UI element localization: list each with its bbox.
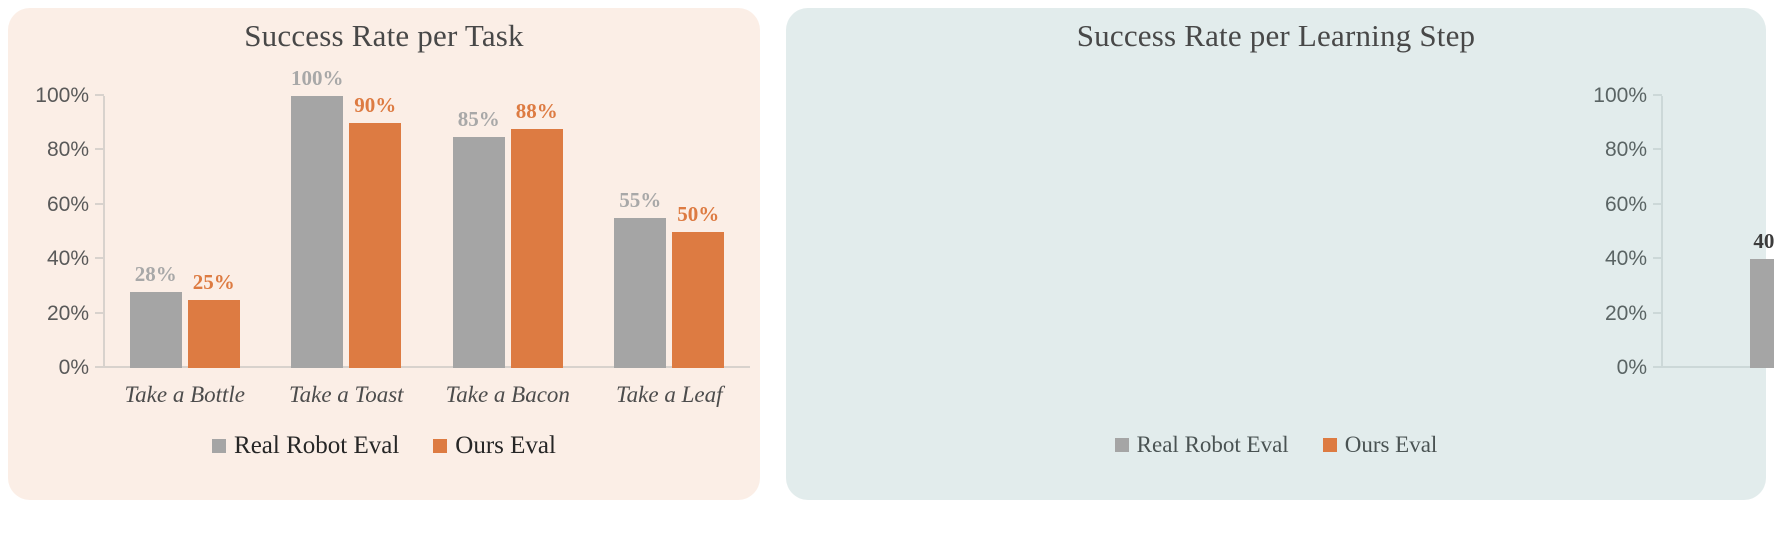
- legend-item-real-robot-eval[interactable]: Real Robot Eval: [1115, 432, 1289, 458]
- bar-group: 40%40%4K: [1662, 96, 1774, 368]
- chart-panel-success-rate-per-task: Success Rate per Task 0%20%40%60%80%100%…: [8, 8, 760, 500]
- y-axis-tick: [95, 366, 104, 368]
- y-axis-tick: [95, 148, 104, 150]
- plot-area-right: 0%20%40%60%80%100% 40%40%4K61%63%8K79%76…: [1662, 96, 1774, 368]
- x-axis-category-label: Take a Bacon: [446, 382, 570, 408]
- bar-value-label: 25%: [193, 270, 235, 295]
- bar-value-label: 28%: [135, 262, 177, 287]
- y-axis-tick-label: 20%: [47, 302, 89, 326]
- bar-ours-eval[interactable]: 88%: [511, 129, 563, 368]
- plot-area-left: 0%20%40%60%80%100% 28%25%Take a Bottle10…: [104, 96, 750, 368]
- legend-swatch-icon-gray: [1115, 438, 1129, 452]
- legend-swatch-icon-gray: [212, 439, 226, 453]
- figure-root: Success Rate per Task 0%20%40%60%80%100%…: [0, 0, 1774, 550]
- page-title: Success Rate per Learning Step: [786, 18, 1766, 54]
- bar-real-robot-eval[interactable]: 28%: [130, 292, 182, 368]
- legend-left: Real Robot Eval Ours Eval: [8, 432, 760, 460]
- y-axis-tick-label: 0%: [1617, 356, 1647, 380]
- y-axis-tick-label: 20%: [1605, 302, 1647, 326]
- legend-item-ours-eval[interactable]: Ours Eval: [433, 432, 556, 460]
- y-axis-tick-label: 80%: [47, 138, 89, 162]
- legend-label: Real Robot Eval: [1137, 432, 1289, 458]
- bar-ours-eval[interactable]: 25%: [188, 300, 240, 368]
- bar-value-label: 55%: [619, 188, 661, 213]
- legend-label: Ours Eval: [455, 432, 556, 460]
- x-axis-category-label: Take a Bottle: [124, 382, 245, 408]
- y-axis-tick: [1653, 312, 1662, 314]
- legend-item-ours-eval[interactable]: Ours Eval: [1323, 432, 1438, 458]
- bar-value-label: 88%: [516, 99, 558, 124]
- y-axis-tick: [1653, 203, 1662, 205]
- y-axis-tick: [1653, 257, 1662, 259]
- legend-right: Real Robot Eval Ours Eval: [786, 432, 1766, 458]
- y-axis-tick: [1653, 94, 1662, 96]
- bar-ours-eval[interactable]: 50%: [672, 232, 724, 368]
- y-axis-tick-label: 60%: [1605, 193, 1647, 217]
- legend-label: Ours Eval: [1345, 432, 1438, 458]
- legend-swatch-icon-orange: [1323, 438, 1337, 452]
- bar-group: 100%90%Take a Toast: [266, 96, 428, 368]
- bar-group: 85%88%Take a Bacon: [427, 96, 589, 368]
- bar-real-robot-eval[interactable]: 55%: [614, 218, 666, 368]
- bar-group: 28%25%Take a Bottle: [104, 96, 266, 368]
- chart-panel-success-rate-per-learning-step: Success Rate per Learning Step 0%20%40%6…: [786, 8, 1766, 500]
- y-axis-tick: [95, 312, 104, 314]
- y-axis-tick: [95, 257, 104, 259]
- bar-value-label: 90%: [354, 93, 396, 118]
- y-axis-tick: [95, 203, 104, 205]
- bar-group: 55%50%Take a Leaf: [589, 96, 751, 368]
- bar-real-robot-eval[interactable]: 40%: [1750, 259, 1774, 368]
- y-axis-tick-label: 60%: [47, 193, 89, 217]
- y-axis-tick: [1653, 366, 1662, 368]
- y-axis-tick-label: 0%: [59, 356, 89, 380]
- y-axis-tick: [1653, 148, 1662, 150]
- bar-value-label: 100%: [291, 66, 344, 91]
- y-axis-tick-label: 80%: [1605, 138, 1647, 162]
- y-axis-tick-label: 40%: [47, 247, 89, 271]
- bar-real-robot-eval[interactable]: 100%: [291, 96, 343, 368]
- y-axis-tick: [95, 94, 104, 96]
- bar-ours-eval[interactable]: 90%: [349, 123, 401, 368]
- y-axis-tick-label: 100%: [1593, 84, 1647, 108]
- legend-item-real-robot-eval[interactable]: Real Robot Eval: [212, 432, 399, 460]
- legend-label: Real Robot Eval: [234, 432, 399, 460]
- bar-real-robot-eval[interactable]: 85%: [453, 137, 505, 368]
- x-axis-category-label: Take a Leaf: [616, 382, 723, 408]
- legend-swatch-icon-orange: [433, 439, 447, 453]
- bar-value-label: 50%: [677, 202, 719, 227]
- bar-value-label: 85%: [458, 107, 500, 132]
- y-axis-tick-label: 40%: [1605, 247, 1647, 271]
- x-axis-category-label: Take a Toast: [289, 382, 404, 408]
- y-axis-tick-label: 100%: [35, 84, 89, 108]
- page-title: Success Rate per Task: [8, 18, 760, 54]
- bar-value-label: 40%: [1753, 229, 1774, 254]
